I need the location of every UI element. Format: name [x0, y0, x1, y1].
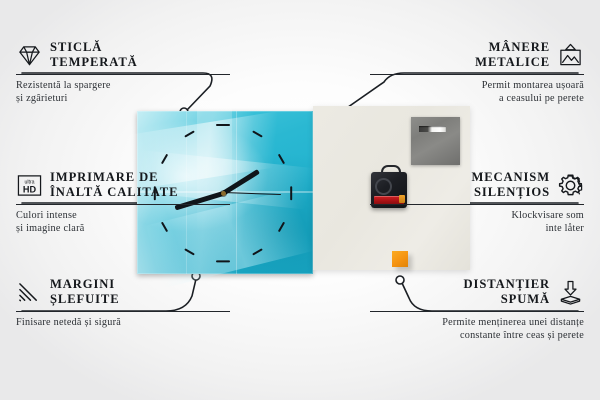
- callout-description: Permit montarea ușoară a ceasului pe per…: [370, 79, 584, 106]
- foam-spacer-arrow-icon: [557, 280, 584, 305]
- callout-title: STICLĂ TEMPERATĂ: [50, 40, 138, 71]
- callout-title: DISTANȚIER SPUMĂ: [464, 277, 550, 308]
- callout-description: Culori intense și imagine clară: [16, 209, 230, 236]
- foam-spacer: [392, 251, 408, 267]
- callout-description: Rezistentă la spargere și zgârieturi: [16, 79, 230, 106]
- second-hand: [223, 192, 281, 195]
- clock-tick: [278, 154, 285, 164]
- callout-rule: [370, 311, 584, 312]
- clock-tick: [216, 124, 230, 126]
- callout-title: IMPRIMARE DE ÎNALTĂ CALITATE: [50, 170, 178, 201]
- callout-title: MECANISM SILENȚIOS: [471, 170, 550, 201]
- clock-tick: [161, 154, 168, 164]
- clock-tick: [252, 131, 262, 138]
- callout-title: MARGINI ȘLEFUITE: [50, 277, 120, 308]
- clock-tick: [290, 186, 292, 200]
- ultra-hd-icon: ultra HD: [16, 173, 43, 198]
- callout-manere-metalice: MÂNERE METALICE Permit montarea ușoară a…: [370, 40, 584, 106]
- infographic-canvas: STICLĂ TEMPERATĂ Rezistentă la spargere …: [0, 0, 600, 400]
- callout-description: Finisare netedă și sigură: [16, 316, 230, 329]
- svg-text:HD: HD: [23, 185, 37, 195]
- callout-distantier-spuma: DISTANȚIER SPUMĂ Permite menținerea unei…: [370, 277, 584, 343]
- gear-icon: [557, 173, 584, 198]
- wall-frame-hanger-icon: [557, 43, 584, 68]
- callout-rule: [16, 74, 230, 75]
- callout-title: MÂNERE METALICE: [475, 40, 550, 71]
- callout-margini-slefuite: MARGINI ȘLEFUITE Finisare netedă și sigu…: [16, 277, 230, 329]
- callout-rule: [370, 204, 584, 205]
- callout-mecanism-silentios: MECANISM SILENȚIOS Klockvisare som inte …: [370, 170, 584, 236]
- hanger-slot: [419, 126, 446, 132]
- callout-description: Permite menținerea unei distanțe constan…: [370, 316, 584, 343]
- diamond-icon: [16, 43, 43, 68]
- metal-hanger-plate: [411, 117, 460, 165]
- callout-rule: [370, 74, 584, 75]
- clock-tick: [216, 260, 230, 262]
- callout-sticla-temperata: STICLĂ TEMPERATĂ Rezistentă la spargere …: [16, 40, 230, 106]
- callout-description: Klockvisare som inte låter: [370, 209, 584, 236]
- callout-rule: [16, 204, 230, 205]
- clock-tick: [184, 131, 194, 138]
- callout-rule: [16, 311, 230, 312]
- callout-imprimare-calitate: ultra HD IMPRIMARE DE ÎNALTĂ CALITATE Cu…: [16, 170, 230, 236]
- clock-tick: [278, 222, 285, 232]
- clock-tick: [252, 248, 262, 255]
- polished-edges-icon: [16, 280, 43, 305]
- clock-tick: [184, 248, 194, 255]
